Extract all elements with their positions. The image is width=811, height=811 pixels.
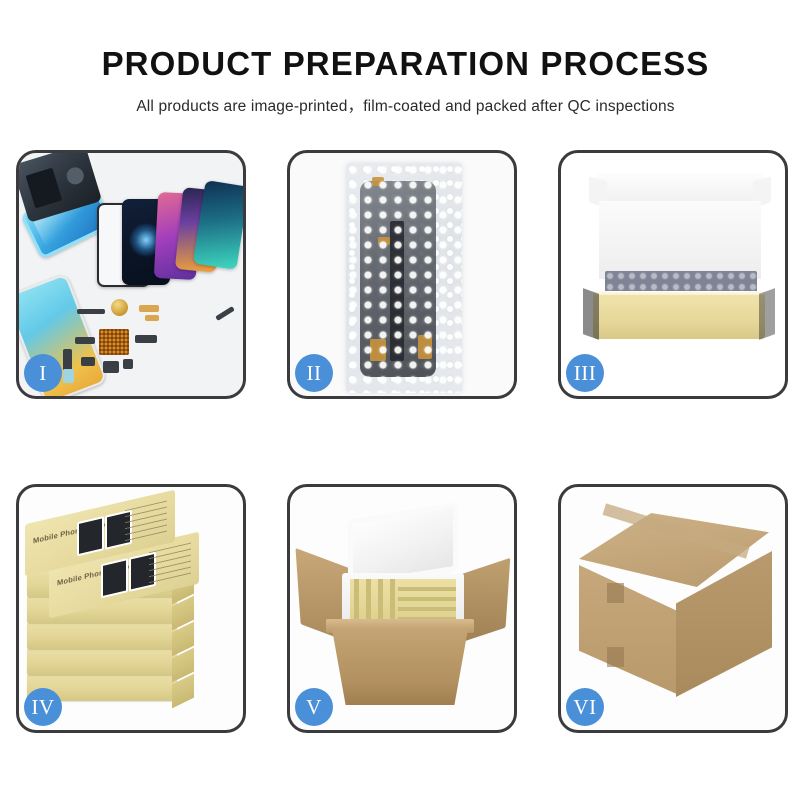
carton-body bbox=[332, 629, 468, 705]
box-front-panel bbox=[593, 295, 765, 339]
connector-tab-top bbox=[372, 177, 384, 186]
connector-tab-lower-right bbox=[418, 335, 432, 359]
small-chip-4 bbox=[103, 361, 119, 373]
step-badge-1: I bbox=[24, 354, 62, 392]
process-steps-grid: I II III bbox=[16, 150, 796, 733]
speaker-mesh bbox=[77, 309, 105, 314]
stacked-box-3 bbox=[27, 623, 177, 649]
carton-left-face bbox=[579, 565, 679, 695]
tape-tab-upper bbox=[607, 583, 624, 603]
tweezer-tool bbox=[215, 306, 235, 321]
connector-tab-mid bbox=[378, 237, 390, 245]
wrapped-flex-cable bbox=[390, 221, 404, 361]
process-step-2: II bbox=[287, 150, 517, 399]
page-subtitle: All products are image-printed，film-coat… bbox=[0, 94, 811, 116]
connector-grid bbox=[99, 329, 129, 355]
small-chip-3 bbox=[81, 357, 95, 366]
step-badge-4: IV bbox=[24, 688, 62, 726]
gold-camera-ring bbox=[111, 299, 128, 316]
flex-cable-1 bbox=[139, 305, 159, 312]
process-step-6: VI bbox=[558, 484, 788, 733]
process-step-1: I bbox=[16, 150, 246, 399]
small-chip-2 bbox=[63, 349, 72, 371]
small-chip-6 bbox=[135, 335, 157, 343]
page-title: PRODUCT PREPARATION PROCESS bbox=[0, 46, 811, 82]
bubble-wrap-bag bbox=[346, 163, 462, 393]
process-step-4: Mobile Phone Spare Parts Mobile Phone Sp… bbox=[16, 484, 246, 733]
tape-tab-lower bbox=[607, 647, 624, 667]
box-product-photo-a bbox=[101, 558, 128, 598]
process-step-5: V bbox=[287, 484, 517, 733]
box-product-photo-c bbox=[77, 516, 104, 556]
stacked-box-4 bbox=[27, 649, 177, 675]
process-step-3: III bbox=[558, 150, 788, 399]
box-back-wall bbox=[599, 201, 761, 279]
connector-tab-lower-left bbox=[370, 339, 386, 361]
step-badge-5: V bbox=[295, 688, 333, 726]
step-badge-3: III bbox=[566, 354, 604, 392]
box-spec-text-upper bbox=[125, 501, 167, 545]
step-badge-2: II bbox=[295, 354, 333, 392]
step-badge-6: VI bbox=[566, 688, 604, 726]
blue-component bbox=[63, 369, 74, 383]
small-chip-5 bbox=[123, 359, 133, 369]
small-chip-1 bbox=[75, 337, 95, 344]
flex-cable-2 bbox=[145, 315, 159, 321]
box-spec-text-lower bbox=[149, 543, 191, 587]
page-header: PRODUCT PREPARATION PROCESS All products… bbox=[0, 0, 811, 116]
